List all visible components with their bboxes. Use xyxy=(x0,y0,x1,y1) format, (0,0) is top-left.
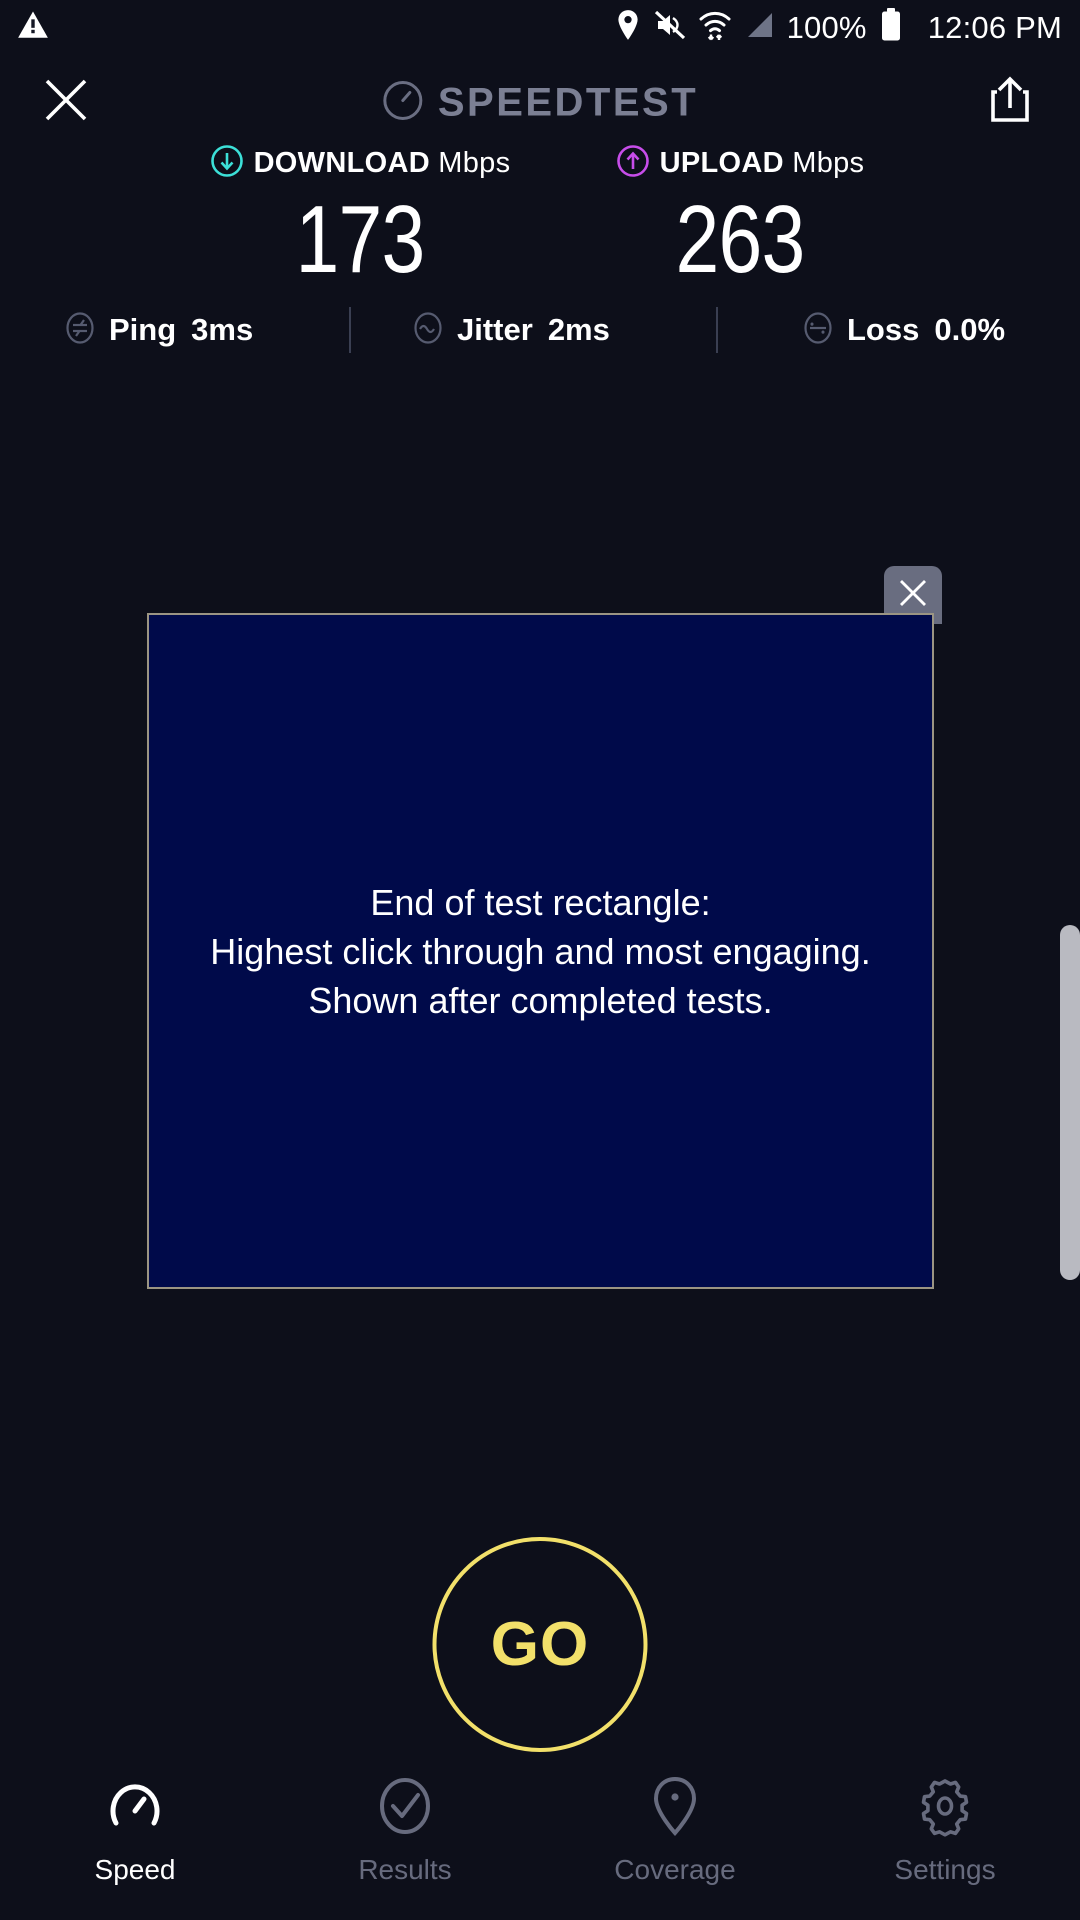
nav-label-settings: Settings xyxy=(894,1854,995,1886)
status-bar: 100% 12:06 PM xyxy=(0,0,1080,55)
app-header: SPEEDTEST xyxy=(0,55,1080,150)
arrow-down-circle-icon xyxy=(210,144,244,183)
speed-results-section: DOWNLOAD Mbps 173 UPLOAD Mbps 263 xyxy=(0,142,1080,272)
speedtest-app-screen: 100% 12:06 PM xyxy=(0,0,1080,1920)
close-icon xyxy=(41,75,91,130)
arrow-up-circle-icon xyxy=(616,144,650,183)
nav-item-results[interactable]: Results xyxy=(270,1775,540,1886)
metric-divider xyxy=(716,307,718,353)
ad-text-line: Shown after completed tests. xyxy=(210,976,870,1025)
clock-label: 12:06 PM xyxy=(928,10,1062,46)
download-label-row: DOWNLOAD Mbps xyxy=(150,142,570,184)
check-circle-icon xyxy=(374,1775,436,1842)
map-pin-icon xyxy=(644,1775,706,1842)
metrics-row: Ping 3ms Jitter 2ms xyxy=(0,300,1080,360)
page-title: SPEEDTEST xyxy=(438,80,698,125)
upload-label: UPLOAD Mbps xyxy=(660,147,865,180)
ad-text: End of test rectangle: Highest click thr… xyxy=(192,878,888,1025)
vertical-scrollbar-thumb[interactable] xyxy=(1060,925,1080,1280)
upload-value: 263 xyxy=(576,192,904,288)
share-button[interactable] xyxy=(982,75,1038,131)
go-button[interactable]: GO xyxy=(433,1537,648,1752)
metric-divider xyxy=(349,307,351,353)
metric-jitter-label: Jitter xyxy=(457,312,533,348)
speedometer-icon xyxy=(104,1775,166,1842)
metric-ping-label: Ping xyxy=(109,312,176,348)
download-result: DOWNLOAD Mbps 173 xyxy=(150,142,570,288)
speedometer-icon xyxy=(382,79,424,126)
close-icon xyxy=(896,576,930,615)
ad-text-line: End of test rectangle: xyxy=(210,878,870,927)
nav-label-results: Results xyxy=(358,1854,451,1886)
nav-item-settings[interactable]: Settings xyxy=(810,1775,1080,1886)
share-icon xyxy=(987,75,1033,130)
bottom-navigation-bar: Speed Results Coverage xyxy=(0,1765,1080,1920)
ping-icon xyxy=(62,310,98,351)
upload-result: UPLOAD Mbps 263 xyxy=(540,142,940,288)
download-label: DOWNLOAD Mbps xyxy=(254,147,511,180)
go-button-label: GO xyxy=(491,1609,589,1680)
volume-muted-icon xyxy=(654,10,686,45)
location-pin-icon xyxy=(615,9,641,46)
advertisement-banner[interactable]: End of test rectangle: Highest click thr… xyxy=(147,613,934,1289)
gear-icon xyxy=(914,1775,976,1842)
download-value: 173 xyxy=(188,192,532,288)
nav-label-speed: Speed xyxy=(95,1854,176,1886)
wifi-icon xyxy=(699,8,731,47)
battery-full-icon xyxy=(880,8,902,47)
metric-loss-value: 0.0% xyxy=(934,312,1005,348)
metric-loss: Loss 0.0% xyxy=(800,310,1005,351)
warning-triangle-icon xyxy=(16,8,50,47)
jitter-icon xyxy=(410,310,446,351)
ad-text-line: Highest click through and most engaging. xyxy=(210,927,870,976)
loss-icon xyxy=(800,310,836,351)
status-bar-left xyxy=(16,8,50,47)
close-button[interactable] xyxy=(38,75,94,131)
metric-ping-value: 3ms xyxy=(191,312,253,348)
nav-item-coverage[interactable]: Coverage xyxy=(540,1775,810,1886)
metric-jitter-value: 2ms xyxy=(548,312,610,348)
upload-label-row: UPLOAD Mbps xyxy=(540,142,940,184)
cell-signal-icon xyxy=(744,10,774,45)
metric-loss-label: Loss xyxy=(847,312,919,348)
app-logo: SPEEDTEST xyxy=(382,79,698,126)
metric-ping: Ping 3ms xyxy=(62,310,253,351)
nav-item-speed[interactable]: Speed xyxy=(0,1775,270,1886)
status-bar-right: 100% 12:06 PM xyxy=(615,8,1062,47)
nav-label-coverage: Coverage xyxy=(614,1854,735,1886)
battery-percent-label: 100% xyxy=(787,10,867,46)
metric-jitter: Jitter 2ms xyxy=(410,310,610,351)
